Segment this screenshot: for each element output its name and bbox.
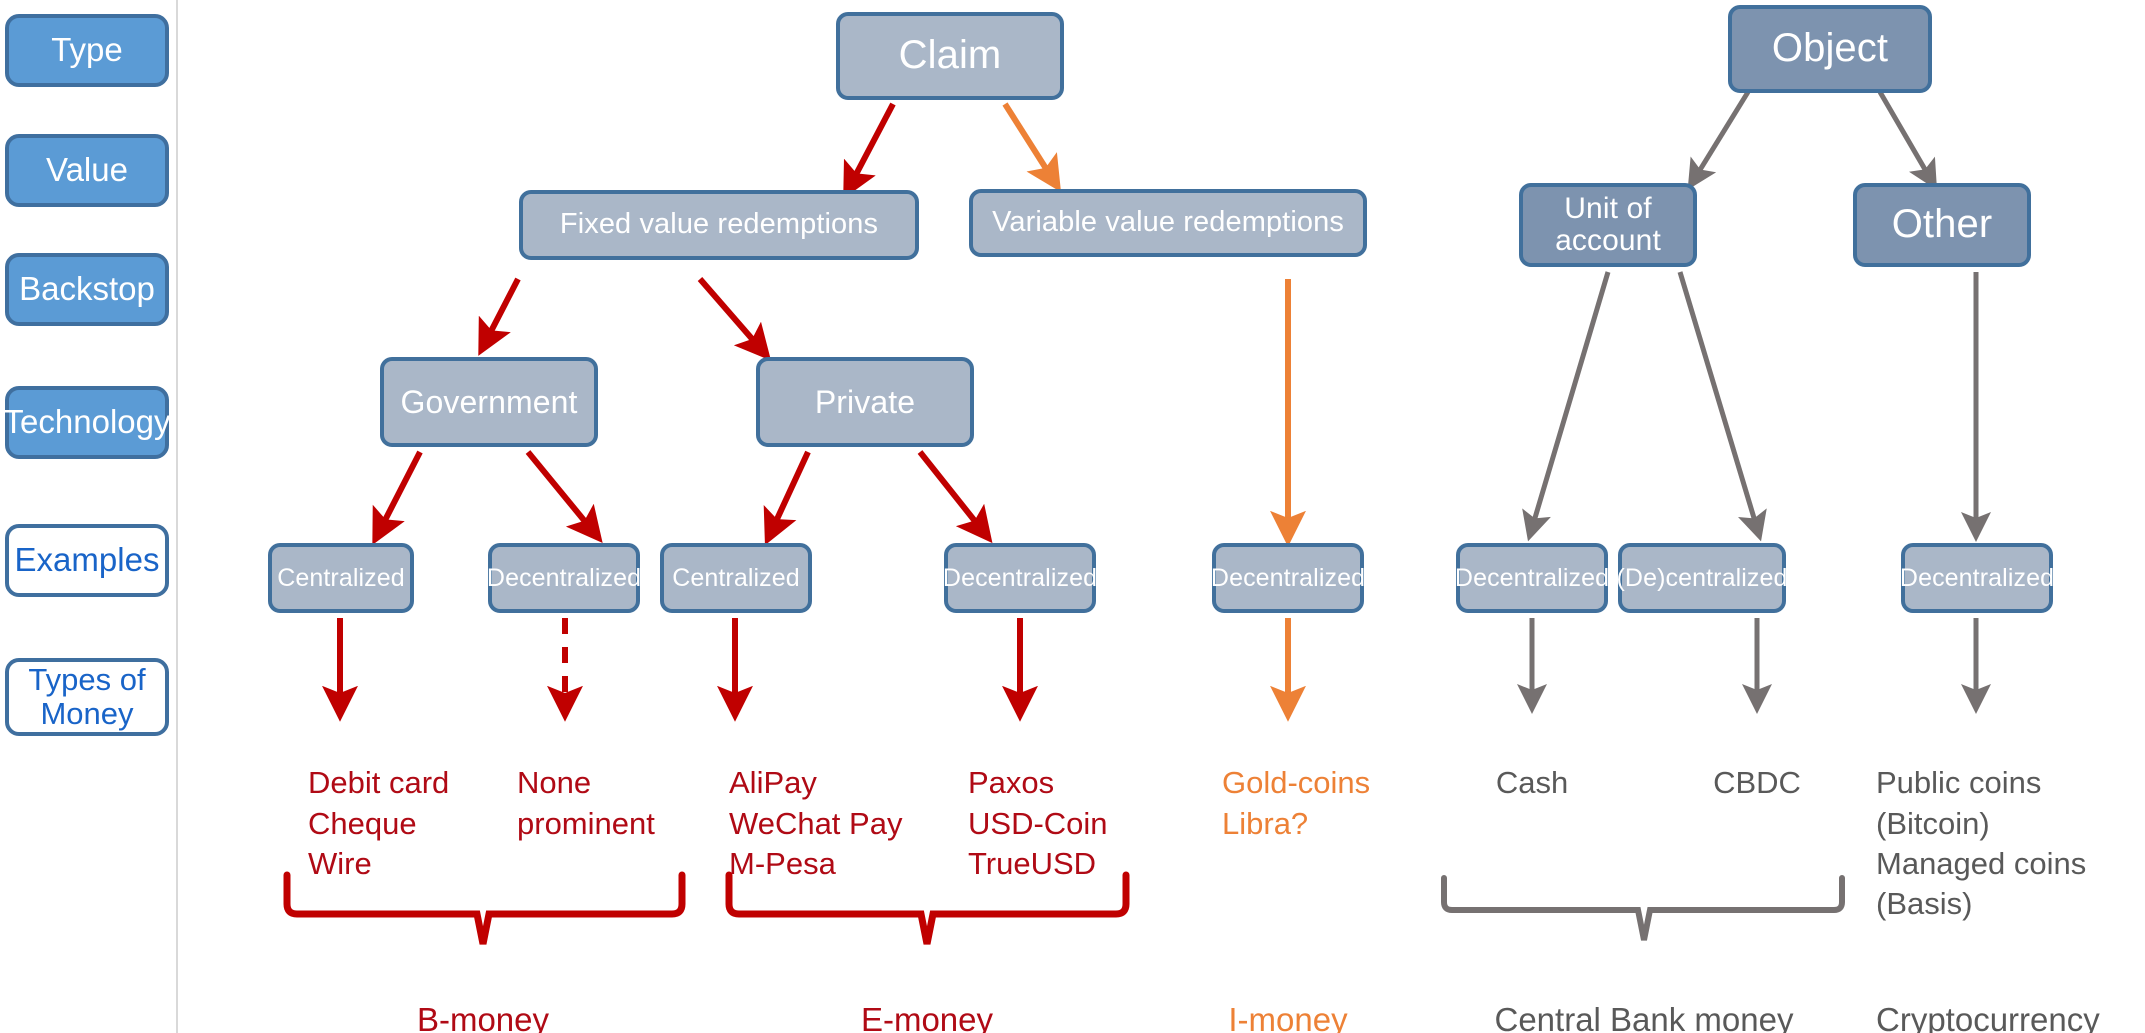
node-private-label: Private bbox=[815, 385, 915, 420]
node-fixed-value-redemptions[interactable]: Fixed value redemptions bbox=[519, 190, 919, 260]
node-gov-decentralized[interactable]: Decentralized bbox=[488, 543, 640, 613]
node-priv-decentralized[interactable]: Decentralized bbox=[944, 543, 1096, 613]
examples-variable-decentralized-text: Gold-coins Libra? bbox=[1222, 765, 1370, 840]
node-fixed-value-redemptions-label: Fixed value redemptions bbox=[560, 209, 878, 240]
arrow-claim-to-variable bbox=[1005, 104, 1052, 178]
row-label-types-of-money: Types of Money bbox=[5, 658, 169, 736]
diagram-canvas: Type Value Backstop Technology Examples … bbox=[0, 0, 2145, 1033]
examples-priv-centralized: AliPay WeChat Pay M-Pesa bbox=[729, 723, 969, 884]
node-gov-decentralized-label: Decentralized bbox=[487, 565, 641, 592]
row-label-technology-text: Technology bbox=[4, 404, 171, 440]
node-gov-centralized[interactable]: Centralized bbox=[268, 543, 414, 613]
node-variable-value-redemptions[interactable]: Variable value redemptions bbox=[969, 189, 1367, 257]
examples-gov-decentralized-text: None prominent bbox=[517, 765, 655, 840]
examples-cbdc: CBDC bbox=[1677, 723, 1837, 804]
node-unit-of-account-label: Unit of account bbox=[1555, 193, 1661, 258]
row-label-value: Value bbox=[5, 134, 169, 207]
node-uoa-de-centralized[interactable]: (De)centralized bbox=[1618, 543, 1786, 613]
examples-variable-decentralized: Gold-coins Libra? bbox=[1222, 723, 1442, 844]
node-variable-decentralized[interactable]: Decentralized bbox=[1212, 543, 1364, 613]
arrow-private-to-decentralized bbox=[920, 452, 982, 530]
row-label-type-text: Type bbox=[51, 32, 123, 68]
examples-cash-text: Cash bbox=[1496, 765, 1568, 800]
money-type-cryptocurrency: Cryptocurrency bbox=[1876, 956, 2144, 1033]
node-uoa-decentralized[interactable]: Decentralized bbox=[1456, 543, 1608, 613]
node-unit-of-account[interactable]: Unit of account bbox=[1519, 183, 1697, 267]
node-priv-centralized[interactable]: Centralized bbox=[660, 543, 812, 613]
row-label-backstop-text: Backstop bbox=[19, 271, 155, 307]
brace-b-money bbox=[287, 875, 682, 944]
examples-gov-centralized: Debit card Cheque Wire bbox=[308, 723, 528, 884]
examples-priv-centralized-text: AliPay WeChat Pay M-Pesa bbox=[729, 765, 902, 881]
row-label-examples-text: Examples bbox=[15, 542, 160, 578]
arrow-object-to-unit-of-account bbox=[1695, 92, 1748, 178]
node-other-decentralized-label: Decentralized bbox=[1900, 565, 2054, 592]
money-type-b-money: B-money bbox=[383, 956, 583, 1033]
arrow-fixed-to-government bbox=[486, 279, 518, 341]
brace-central-bank-money bbox=[1444, 878, 1842, 940]
row-label-types-of-money-text: Types of Money bbox=[28, 663, 145, 731]
node-uoa-decentralized-label: Decentralized bbox=[1455, 565, 1609, 592]
node-priv-decentralized-label: Decentralized bbox=[943, 565, 1097, 592]
row-label-technology: Technology bbox=[5, 386, 169, 459]
node-variable-value-redemptions-label: Variable value redemptions bbox=[992, 207, 1344, 238]
node-government[interactable]: Government bbox=[380, 357, 598, 447]
money-type-e-money: E-money bbox=[827, 956, 1027, 1033]
examples-other-text: Public coins (Bitcoin) Managed coins (Ba… bbox=[1876, 765, 2086, 921]
arrow-government-to-decentralized bbox=[528, 452, 592, 530]
examples-cash: Cash bbox=[1452, 723, 1612, 804]
label-column-divider bbox=[176, 0, 178, 1033]
money-type-cryptocurrency-text: Cryptocurrency bbox=[1876, 1001, 2100, 1033]
node-other[interactable]: Other bbox=[1853, 183, 2031, 267]
examples-other: Public coins (Bitcoin) Managed coins (Ba… bbox=[1876, 723, 2144, 924]
arrow-government-to-centralized bbox=[380, 452, 420, 530]
node-other-label: Other bbox=[1892, 203, 1993, 246]
examples-cbdc-text: CBDC bbox=[1713, 765, 1801, 800]
node-variable-decentralized-label: Decentralized bbox=[1211, 565, 1365, 592]
examples-priv-decentralized-text: Paxos USD-Coin TrueUSD bbox=[968, 765, 1108, 881]
examples-gov-centralized-text: Debit card Cheque Wire bbox=[308, 765, 449, 881]
arrow-claim-to-fixed bbox=[851, 104, 893, 184]
money-type-central-bank-money-text: Central Bank money bbox=[1495, 1001, 1794, 1033]
arrow-object-to-other bbox=[1880, 92, 1930, 178]
node-uoa-de-centralized-label: (De)centralized bbox=[1617, 565, 1788, 592]
arrow-fixed-to-private bbox=[700, 279, 760, 348]
row-label-type: Type bbox=[5, 14, 169, 87]
brace-e-money bbox=[729, 875, 1126, 944]
money-type-e-money-text: E-money bbox=[861, 1001, 993, 1033]
examples-priv-decentralized: Paxos USD-Coin TrueUSD bbox=[968, 723, 1198, 884]
node-other-decentralized[interactable]: Decentralized bbox=[1901, 543, 2053, 613]
arrow-private-to-centralized bbox=[772, 452, 808, 530]
node-private[interactable]: Private bbox=[756, 357, 974, 447]
row-label-backstop: Backstop bbox=[5, 253, 169, 326]
money-type-central-bank-money: Central Bank money bbox=[1494, 956, 1794, 1033]
money-type-i-money: I-money bbox=[1188, 956, 1388, 1033]
row-label-examples: Examples bbox=[5, 524, 169, 597]
node-object[interactable]: Object bbox=[1728, 5, 1932, 93]
arrow-uoa-to-de-centralized bbox=[1680, 272, 1757, 528]
node-priv-centralized-label: Centralized bbox=[672, 565, 800, 592]
row-label-value-text: Value bbox=[46, 152, 128, 188]
node-object-label: Object bbox=[1772, 27, 1888, 70]
node-claim[interactable]: Claim bbox=[836, 12, 1064, 100]
arrow-uoa-to-decentralized bbox=[1532, 272, 1608, 528]
node-government-label: Government bbox=[400, 385, 577, 420]
money-type-i-money-text: I-money bbox=[1228, 1001, 1347, 1033]
examples-gov-decentralized: None prominent bbox=[517, 723, 737, 844]
node-claim-label: Claim bbox=[899, 34, 1002, 77]
money-type-b-money-text: B-money bbox=[417, 1001, 549, 1033]
node-gov-centralized-label: Centralized bbox=[277, 565, 405, 592]
